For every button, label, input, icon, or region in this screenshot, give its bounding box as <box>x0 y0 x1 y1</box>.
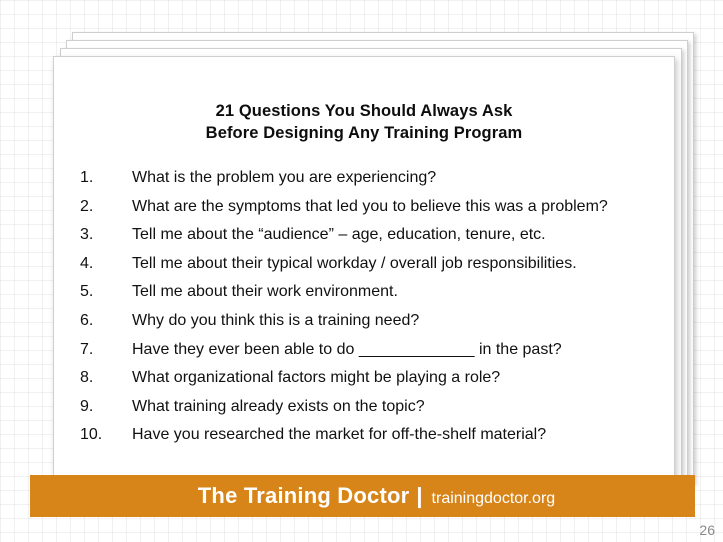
question-text: What organizational factors might be pla… <box>132 367 656 389</box>
question-text: Have they ever been able to do _________… <box>132 339 656 361</box>
question-number: 4. <box>80 253 132 275</box>
brand-title: The Training Doctor <box>198 483 410 509</box>
list-item: 9. What training already exists on the t… <box>80 396 656 418</box>
brand-url: trainingdoctor.org <box>432 490 556 508</box>
list-item: 7. Have they ever been able to do ______… <box>80 339 656 361</box>
question-text: Tell me about their typical workday / ov… <box>132 253 656 275</box>
list-item: 1. What is the problem you are experienc… <box>80 167 656 189</box>
question-number: 5. <box>80 281 132 303</box>
slide-canvas: 21 Questions You Should Always Ask Befor… <box>0 0 723 542</box>
list-item: 8. What organizational factors might be … <box>80 367 656 389</box>
question-text: What training already exists on the topi… <box>132 396 656 418</box>
question-text: Why do you think this is a training need… <box>132 310 656 332</box>
question-number: 10. <box>80 424 132 446</box>
question-list: 1. What is the problem you are experienc… <box>80 167 656 453</box>
question-number: 6. <box>80 310 132 332</box>
question-text: Tell me about their work environment. <box>132 281 656 303</box>
paper-sheet-front: 21 Questions You Should Always Ask Befor… <box>53 56 675 478</box>
list-item: 10. Have you researched the market for o… <box>80 424 656 446</box>
list-item: 5. Tell me about their work environment. <box>80 281 656 303</box>
list-item: 3. Tell me about the “audience” – age, e… <box>80 224 656 246</box>
question-number: 1. <box>80 167 132 189</box>
question-text: What are the symptoms that led you to be… <box>132 196 656 218</box>
document-title-line-1: 21 Questions You Should Always Ask <box>54 101 674 123</box>
question-number: 8. <box>80 367 132 389</box>
question-number: 7. <box>80 339 132 361</box>
question-number: 3. <box>80 224 132 246</box>
question-number: 2. <box>80 196 132 218</box>
question-text: What is the problem you are experiencing… <box>132 167 656 189</box>
document-title-line-2: Before Designing Any Training Program <box>54 123 674 145</box>
document-title: 21 Questions You Should Always Ask Befor… <box>54 101 674 145</box>
question-text: Have you researched the market for off-t… <box>132 424 656 446</box>
question-text: Tell me about the “audience” – age, educ… <box>132 224 656 246</box>
list-item: 6. Why do you think this is a training n… <box>80 310 656 332</box>
brand-separator: | <box>416 483 422 509</box>
question-number: 9. <box>80 396 132 418</box>
page-number: 26 <box>699 522 715 538</box>
list-item: 2. What are the symptoms that led you to… <box>80 196 656 218</box>
footer-banner: The Training Doctor | trainingdoctor.org <box>30 475 695 517</box>
list-item: 4. Tell me about their typical workday /… <box>80 253 656 275</box>
footer-banner-content: The Training Doctor | trainingdoctor.org <box>198 483 555 509</box>
